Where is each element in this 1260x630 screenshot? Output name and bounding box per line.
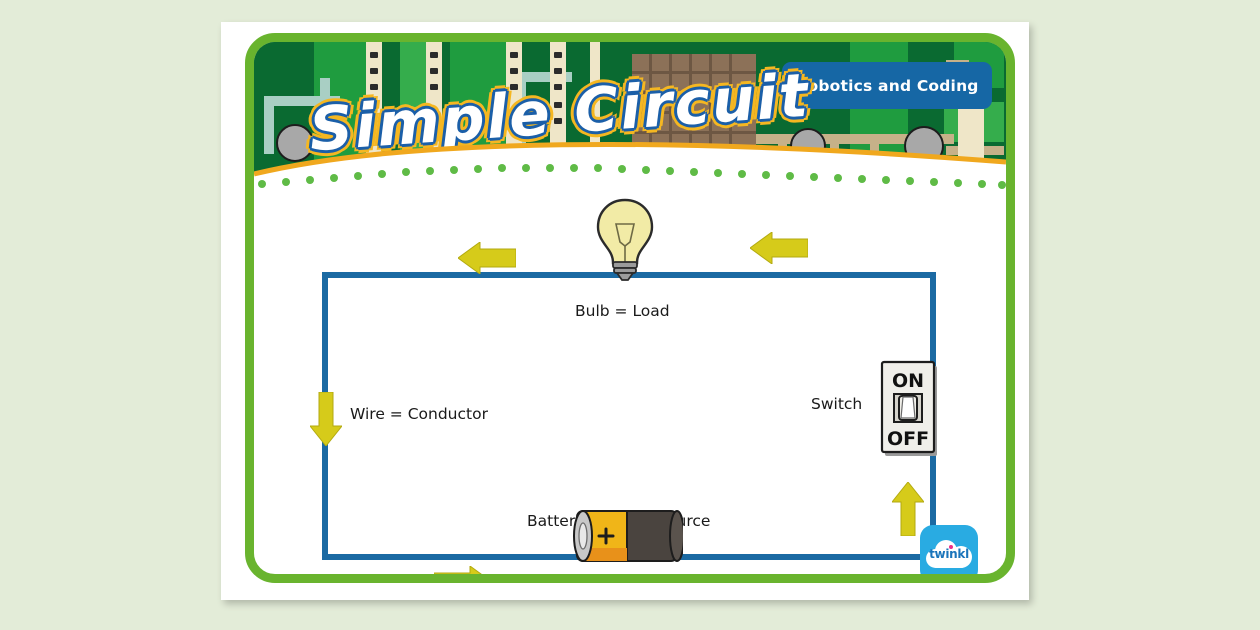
arrow-bottom (434, 566, 492, 583)
light-switch-icon[interactable]: ON OFF (880, 360, 942, 460)
poster-page: Robotics and Coding Simple Circuit (0, 0, 1260, 630)
arrow-right-wire (892, 482, 924, 540)
twinkl-wordmark: twinkl (926, 540, 972, 568)
bulb-label: Bulb = Load (575, 302, 670, 320)
circuit-diagram: Bulb = Load Wire = Conductor Battery = P… (254, 190, 1006, 570)
switch-label: Switch (811, 395, 862, 413)
arrow-left-wire (310, 392, 342, 450)
arrow-top-left (458, 242, 516, 278)
twinkl-dot-icon (949, 545, 953, 549)
twinkl-logo[interactable]: twinkl (920, 525, 978, 583)
svg-text:ON: ON (892, 370, 924, 392)
battery-icon (569, 508, 683, 564)
subject-banner: Robotics and Coding (782, 62, 992, 109)
header-wave-divider (254, 140, 1006, 190)
header-banner: Robotics and Coding Simple Circuit (254, 42, 1006, 190)
lightbulb-icon (592, 198, 658, 282)
wire-label: Wire = Conductor (350, 405, 488, 423)
svg-text:OFF: OFF (887, 428, 929, 450)
subject-banner-label: Robotics and Coding (795, 77, 978, 95)
arrow-top-right (750, 232, 808, 268)
poster-frame: Robotics and Coding Simple Circuit (245, 33, 1015, 583)
cloud-icon: twinkl (926, 540, 972, 568)
